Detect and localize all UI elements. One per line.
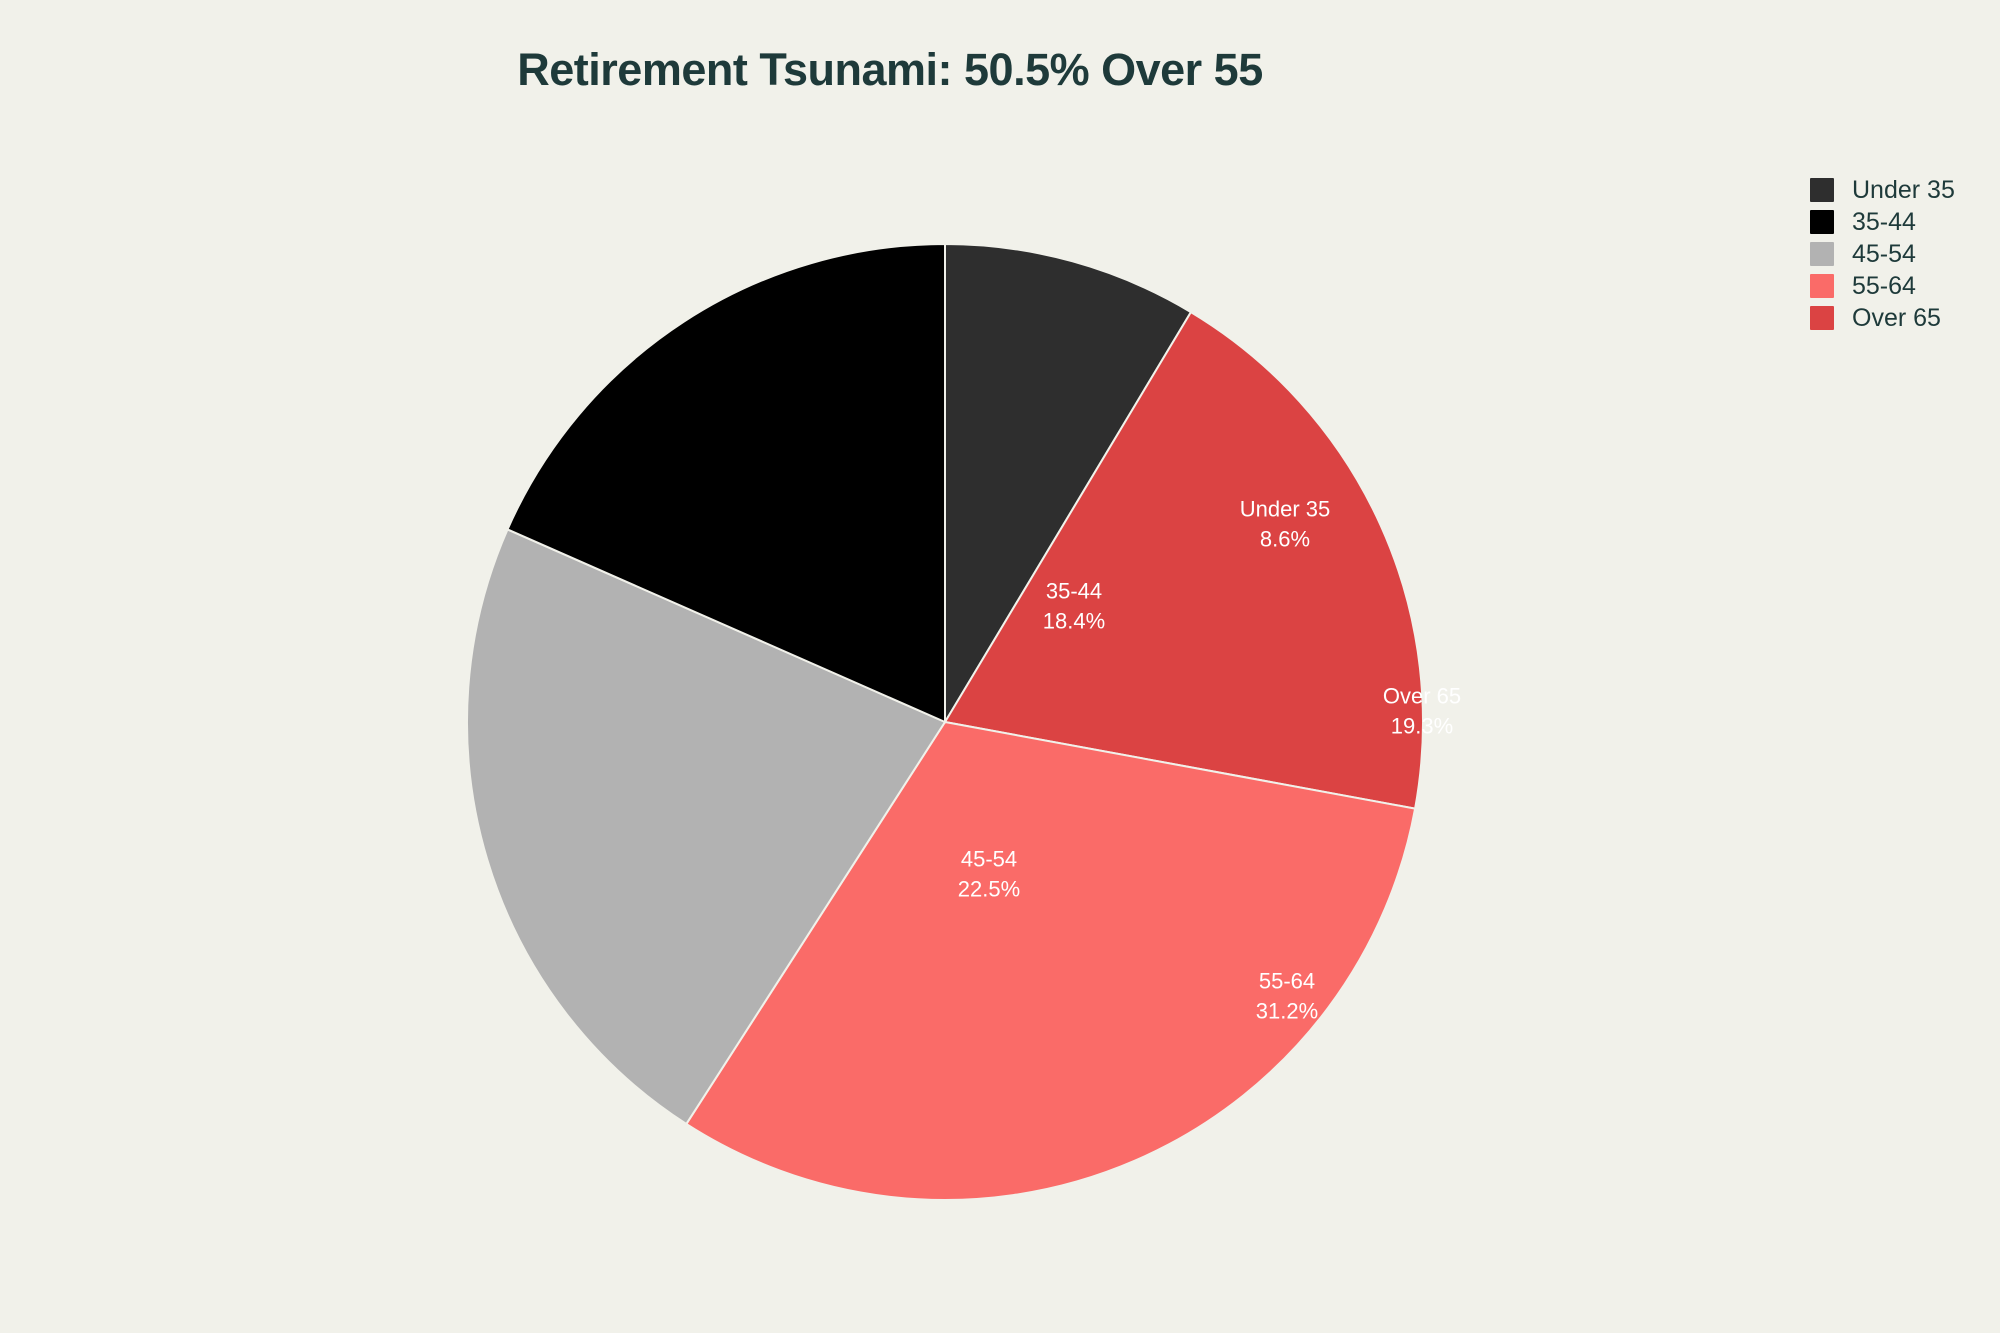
pie-slice-group	[467, 244, 1423, 1200]
legend-item[interactable]: 45-54	[1810, 242, 1955, 266]
legend-swatch-icon	[1810, 242, 1834, 266]
legend-item-label: 55-64	[1852, 274, 1916, 299]
legend-swatch-icon	[1810, 306, 1834, 330]
legend-item[interactable]: 35-44	[1810, 210, 1955, 234]
legend-swatch-icon	[1810, 274, 1834, 298]
pie-chart-figure: Retirement Tsunami: 50.5% Over 55 Under …	[0, 0, 2000, 1333]
legend-item-label: Under 35	[1852, 178, 1955, 203]
chart-legend: Under 3535-4445-5455-64Over 65	[1810, 178, 1955, 330]
chart-title: Retirement Tsunami: 50.5% Over 55	[0, 44, 1780, 96]
legend-swatch-icon	[1810, 178, 1834, 202]
pie-svg	[467, 244, 1423, 1200]
legend-item[interactable]: Over 65	[1810, 306, 1955, 330]
legend-item[interactable]: 55-64	[1810, 274, 1955, 298]
legend-item-label: Over 65	[1852, 306, 1941, 331]
pie-plot-area: Under 358.6%Over 6519.3%55-6431.2%45-542…	[467, 244, 1423, 1200]
legend-item-label: 45-54	[1852, 242, 1916, 267]
legend-swatch-icon	[1810, 210, 1834, 234]
legend-item[interactable]: Under 35	[1810, 178, 1955, 202]
legend-item-label: 35-44	[1852, 210, 1916, 235]
